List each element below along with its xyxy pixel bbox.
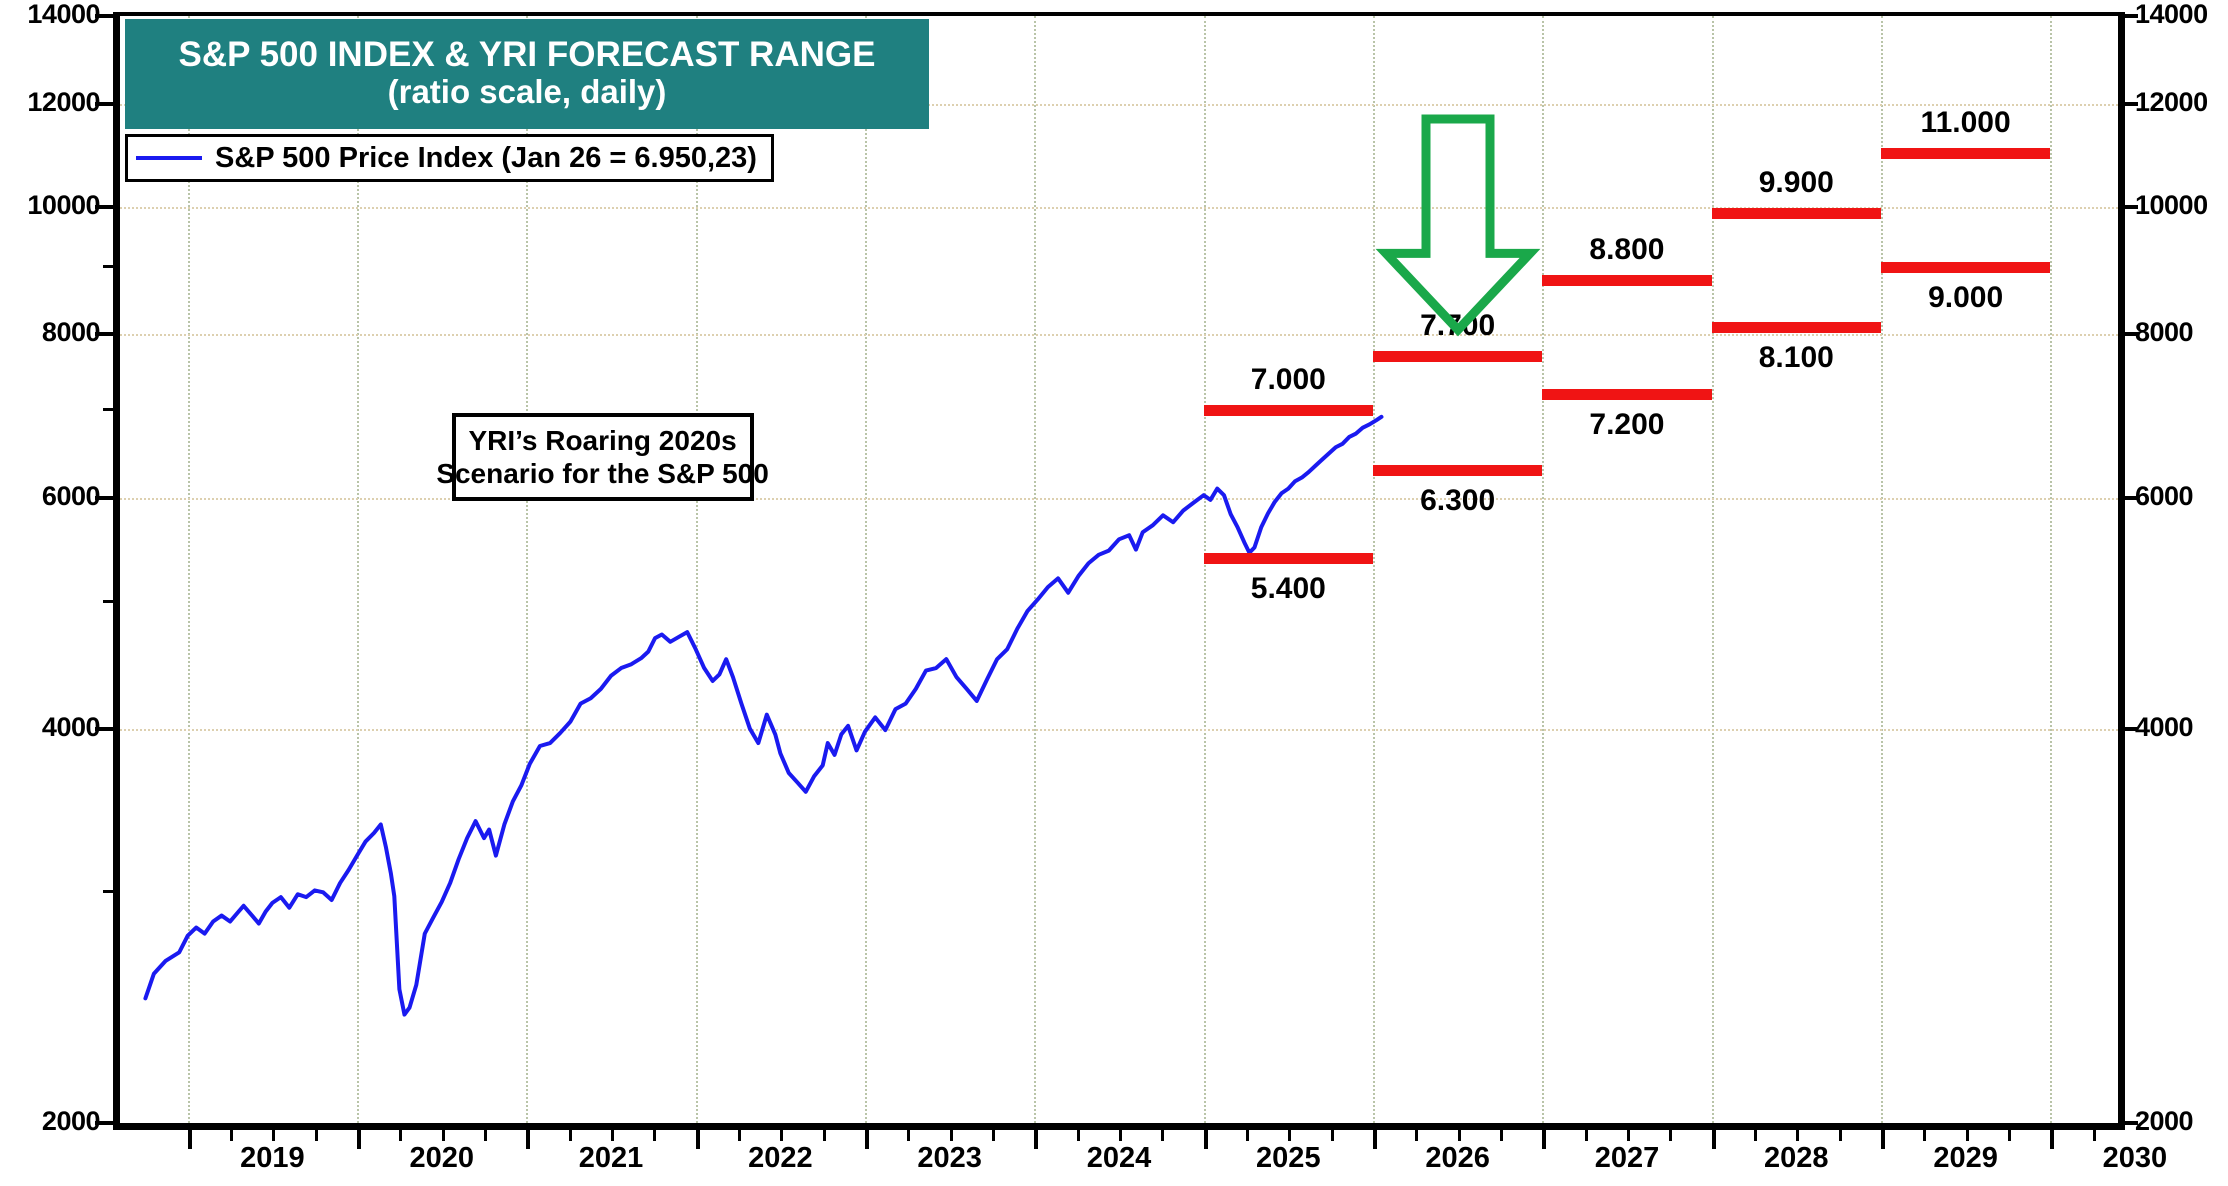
forecast-bar-2027-low [1542, 389, 1711, 400]
x-axis-minor-tick [611, 1130, 614, 1141]
x-axis-minor-tick [1119, 1130, 1122, 1141]
x-axis-minor-tick [738, 1130, 741, 1141]
x-axis-tick-mark [865, 1130, 869, 1149]
y-axis-tick-label-left: 14000 [27, 0, 100, 30]
x-axis-minor-tick [907, 1130, 910, 1141]
y-axis-tick-mark [95, 1121, 115, 1125]
y-axis-tick-label-right: 2000 [2135, 1106, 2193, 1137]
y-axis-tick-mark [2118, 1121, 2138, 1125]
x-axis-tick-label: 2024 [1087, 1142, 1152, 1175]
y-axis-minor-tick [103, 890, 115, 893]
annotation-line-1: YRI’s Roaring 2020s [468, 424, 736, 457]
x-axis-minor-tick [1077, 1130, 1080, 1141]
chart-root: 7.0005.4007.7006.3008.8007.2009.9008.100… [0, 0, 2228, 1186]
y-axis-minor-tick [103, 332, 115, 335]
y-axis-minor-tick [103, 727, 115, 730]
forecast-label-2028-low: 8.100 [1759, 341, 1834, 375]
plot-area: 7.0005.4007.7006.3008.8007.2009.9008.100… [113, 12, 2125, 1130]
forecast-bar-2028-low [1712, 322, 1881, 333]
scenario-annotation-box: YRI’s Roaring 2020s Scenario for the S&P… [452, 413, 754, 501]
y-axis-tick-mark [2118, 727, 2138, 731]
y-axis-tick-mark [95, 14, 115, 18]
y-axis-tick-mark [95, 102, 115, 106]
x-axis-tick-mark [1373, 1130, 1377, 1149]
forecast-bar-2029-high [1881, 148, 2050, 159]
forecast-bar-2028-high [1712, 208, 1881, 219]
x-axis-tick-label: 2021 [579, 1142, 644, 1175]
x-axis-minor-tick [569, 1130, 572, 1141]
x-axis-minor-tick [1246, 1130, 1249, 1141]
y-axis-tick-mark [2118, 102, 2138, 106]
chart-title-banner: S&P 500 INDEX & YRI FORECAST RANGE (rati… [125, 19, 929, 129]
x-axis-tick-label: 2026 [1425, 1142, 1490, 1175]
y-axis-tick-label-left: 2000 [42, 1106, 100, 1137]
legend-label: S&P 500 Price Index (Jan 26 = 6.950,23) [215, 142, 757, 175]
x-axis-tick-label: 2023 [917, 1142, 982, 1175]
x-axis-minor-tick [1669, 1130, 1672, 1141]
x-axis-tick-mark [1204, 1130, 1208, 1149]
x-axis-minor-tick [1923, 1130, 1926, 1141]
y-axis-tick-mark [95, 205, 115, 209]
forecast-label-2029-low: 9.000 [1928, 281, 2003, 315]
x-axis-minor-tick [230, 1130, 233, 1141]
x-axis-minor-tick [1288, 1130, 1291, 1141]
x-axis-minor-tick [950, 1130, 953, 1141]
x-axis-tick-mark [1542, 1130, 1546, 1149]
chart-legend: S&P 500 Price Index (Jan 26 = 6.950,23) [125, 134, 774, 182]
y-axis-tick-label-left: 6000 [42, 481, 100, 512]
green-down-arrow-icon [1378, 113, 1538, 336]
x-axis-minor-tick [442, 1130, 445, 1141]
x-axis-minor-tick [1415, 1130, 1418, 1141]
forecast-bar-2025-high [1204, 405, 1373, 416]
forecast-label-2025-high: 7.000 [1251, 363, 1326, 397]
forecast-label-2027-high: 8.800 [1589, 233, 1664, 267]
forecast-label-2025-low: 5.400 [1251, 572, 1326, 606]
forecast-label-2029-high: 11.000 [1921, 106, 2011, 140]
y-axis-tick-label-left: 10000 [27, 190, 100, 221]
forecast-label-2026-low: 6.300 [1420, 484, 1495, 518]
x-axis-minor-tick [780, 1130, 783, 1141]
x-axis-tick-mark [2050, 1130, 2054, 1149]
x-axis-tick-label: 2028 [1764, 1142, 1829, 1175]
y-axis-tick-label-right: 10000 [2135, 190, 2208, 221]
y-axis-minor-tick [103, 408, 115, 411]
y-axis-tick-label-left: 4000 [42, 712, 100, 743]
x-axis-minor-tick [399, 1130, 402, 1141]
x-axis-minor-tick [1500, 1130, 1503, 1141]
y-axis-tick-label-right: 4000 [2135, 712, 2193, 743]
plot-inner: 7.0005.4007.7006.3008.8007.2009.9008.100… [120, 16, 2118, 1123]
x-axis-minor-tick [1966, 1130, 1969, 1141]
y-axis-minor-tick [103, 600, 115, 603]
x-axis-tick-label: 2020 [409, 1142, 474, 1175]
x-axis-minor-tick [1627, 1130, 1630, 1141]
x-axis-minor-tick [484, 1130, 487, 1141]
x-axis-minor-tick [1585, 1130, 1588, 1141]
x-axis-minor-tick [992, 1130, 995, 1141]
x-axis-minor-tick [2093, 1130, 2096, 1141]
legend-color-swatch [136, 156, 202, 160]
y-axis-tick-label-left: 12000 [27, 87, 100, 118]
chart-title: S&P 500 INDEX & YRI FORECAST RANGE [179, 37, 876, 74]
x-axis-tick-mark [188, 1130, 192, 1149]
x-axis-minor-tick [1161, 1130, 1164, 1141]
x-axis-minor-tick [1754, 1130, 1757, 1141]
x-axis-minor-tick [2008, 1130, 2011, 1141]
y-axis-tick-label-right: 14000 [2135, 0, 2208, 30]
y-axis-minor-tick [103, 265, 115, 268]
x-axis-tick-mark [1034, 1130, 1038, 1149]
x-axis-minor-tick [823, 1130, 826, 1141]
forecast-bar-2026-high [1373, 351, 1542, 362]
x-axis-tick-label: 2022 [748, 1142, 813, 1175]
x-axis-tick-mark [357, 1130, 361, 1149]
x-axis-tick-mark [1881, 1130, 1885, 1149]
y-axis-tick-mark [2118, 205, 2138, 209]
x-axis-minor-tick [315, 1130, 318, 1141]
x-axis-minor-tick [1458, 1130, 1461, 1141]
x-axis-minor-tick [1839, 1130, 1842, 1141]
x-axis-minor-tick [1331, 1130, 1334, 1141]
x-axis-minor-tick [1796, 1130, 1799, 1141]
y-axis-tick-label-right: 8000 [2135, 317, 2193, 348]
y-axis-tick-mark [2118, 496, 2138, 500]
y-axis-tick-mark [2118, 14, 2138, 18]
forecast-bar-2025-low [1204, 553, 1373, 564]
x-axis-tick-label: 2030 [2103, 1142, 2168, 1175]
annotation-line-2: Scenario for the S&P 500 [436, 457, 769, 490]
x-axis-tick-mark [696, 1130, 700, 1149]
y-axis-tick-label-right: 12000 [2135, 87, 2208, 118]
forecast-bar-2027-high [1542, 275, 1711, 286]
x-axis-minor-tick [272, 1130, 275, 1141]
x-axis-tick-label: 2029 [1933, 1142, 1998, 1175]
x-axis-tick-label: 2027 [1595, 1142, 1660, 1175]
x-axis-tick-label: 2019 [240, 1142, 305, 1175]
chart-subtitle: (ratio scale, daily) [388, 73, 667, 111]
x-axis-tick-mark [526, 1130, 530, 1149]
x-axis-tick-mark [1712, 1130, 1716, 1149]
y-axis-tick-mark [2118, 332, 2138, 336]
y-axis-minor-tick [103, 496, 115, 499]
x-axis-tick-label: 2025 [1256, 1142, 1321, 1175]
x-axis-minor-tick [653, 1130, 656, 1141]
forecast-label-2027-low: 7.200 [1589, 408, 1664, 442]
y-axis-tick-label-right: 6000 [2135, 481, 2193, 512]
forecast-bar-2026-low [1373, 465, 1542, 476]
forecast-bar-2029-low [1881, 262, 2050, 273]
forecast-label-2028-high: 9.900 [1759, 166, 1834, 200]
y-axis-tick-label-left: 8000 [42, 317, 100, 348]
